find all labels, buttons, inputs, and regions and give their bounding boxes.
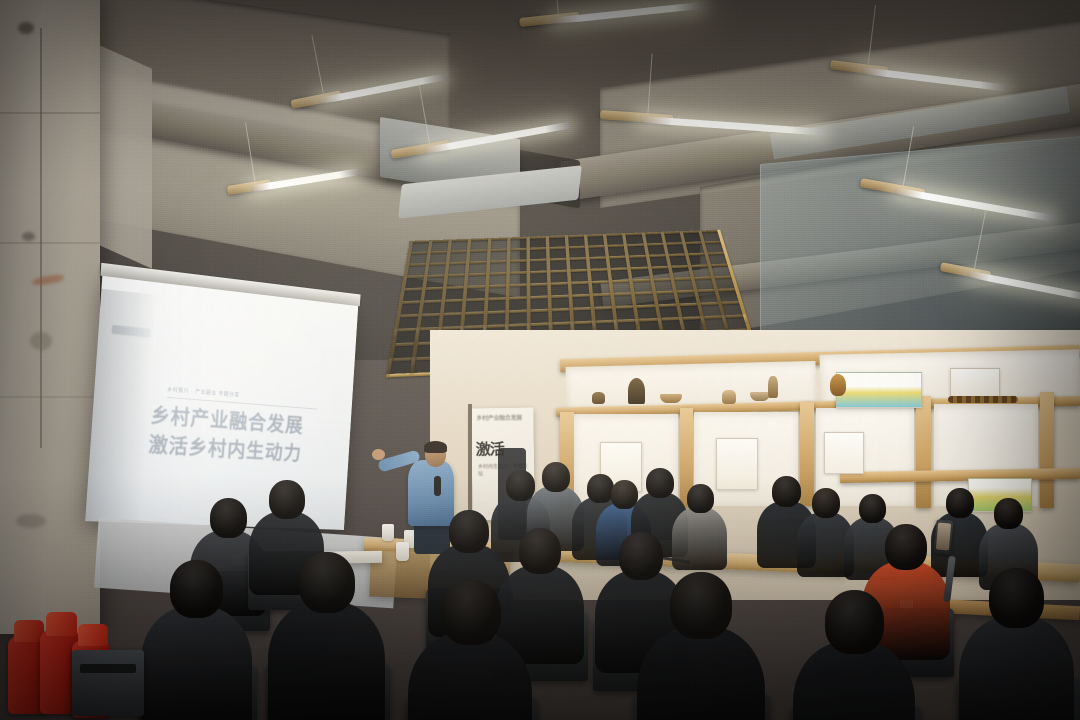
lattice-bar-horizontal [403, 264, 728, 279]
artwork-blue-yellow-landscape [836, 372, 922, 408]
clay-bowl [750, 392, 770, 401]
tube-glow [861, 67, 1007, 92]
audience-group [0, 440, 1080, 720]
audience-member [403, 580, 538, 720]
audience-member-head [687, 484, 714, 513]
fluorescent-tube-3 [391, 120, 566, 166]
fluorescent-tube-1 [227, 166, 356, 202]
audience-member-head [299, 552, 355, 613]
audience-member [954, 568, 1079, 720]
audience-member-torso [959, 616, 1074, 720]
tube-glow [893, 187, 1055, 222]
row-of-small-pots [948, 396, 1018, 403]
audience-member [788, 590, 921, 720]
fire-extinguisher-head [78, 624, 108, 646]
tube-glow [966, 270, 1080, 301]
tube-glow [639, 116, 824, 136]
lattice-bar-horizontal [407, 241, 720, 255]
tube-glow [318, 73, 446, 104]
ceramic-gourd-vase [830, 374, 846, 396]
clay-bowl [660, 394, 682, 403]
audience-member-torso [141, 606, 252, 720]
light-suspension-wire [868, 5, 876, 65]
equipment-case-slot [80, 664, 136, 673]
audience-member-head [542, 462, 570, 492]
lattice-bar-horizontal [396, 301, 739, 318]
audience-member [631, 572, 770, 720]
audience-member [263, 552, 390, 720]
audience-member-head [519, 528, 561, 574]
lattice-bar-horizontal [405, 252, 724, 266]
audience-member-torso [268, 601, 385, 720]
audience-member-head [441, 580, 501, 645]
black-equipment-case [72, 650, 144, 716]
carved-animal-figure [592, 392, 605, 404]
fluorescent-tube-5 [599, 110, 815, 141]
fluorescent-tube-6 [829, 60, 1000, 97]
light-suspension-wire [974, 210, 986, 269]
audience-member-head [170, 560, 223, 618]
audience-member [136, 560, 257, 720]
wooden-pagoda-model [628, 378, 645, 404]
fluorescent-tube-4 [519, 0, 695, 34]
audience-member-head [946, 488, 974, 518]
fluorescent-tube-7 [859, 178, 1049, 227]
audience-member-head [885, 524, 927, 570]
fluorescent-tube-8 [938, 262, 1080, 306]
light-suspension-wire [556, 0, 559, 14]
lattice-bar-horizontal [399, 288, 736, 304]
small-figurine [722, 390, 736, 404]
slide-kicker-text: 乡村振兴 · 产业融合 专题分享 [167, 385, 305, 404]
audience-member-head [812, 488, 840, 518]
light-suspension-wire [647, 53, 652, 113]
lattice-bar-horizontal [401, 276, 732, 291]
light-suspension-wire [311, 35, 323, 94]
audience-member-torso [408, 632, 532, 720]
audience-member-head [670, 572, 732, 639]
light-suspension-wire [419, 84, 430, 143]
fire-extinguisher-head [46, 612, 77, 636]
audience-member-head [825, 590, 884, 654]
audience-member-head [210, 498, 247, 538]
audience-member-head [449, 510, 489, 553]
audience-member-head [859, 494, 886, 523]
audience-member-head [269, 480, 305, 519]
audience-member-head [994, 498, 1023, 529]
light-suspension-wire [245, 122, 255, 181]
slide-logo-mark [112, 325, 152, 338]
tube-glow [423, 121, 573, 154]
poster-top-line: 乡村产业融合发展 [476, 416, 528, 424]
photograph-canvas: 乡村振兴 · 产业融合 专题分享 乡村产业融合发展 激活乡村内生动力 乡村产业融… [0, 0, 1080, 720]
audience-member-torso [637, 626, 765, 720]
slender-vase [768, 376, 778, 398]
audience-member-head [989, 568, 1044, 628]
phone-screen [936, 522, 951, 550]
fluorescent-tube-2 [290, 72, 440, 116]
light-suspension-wire [903, 126, 914, 185]
